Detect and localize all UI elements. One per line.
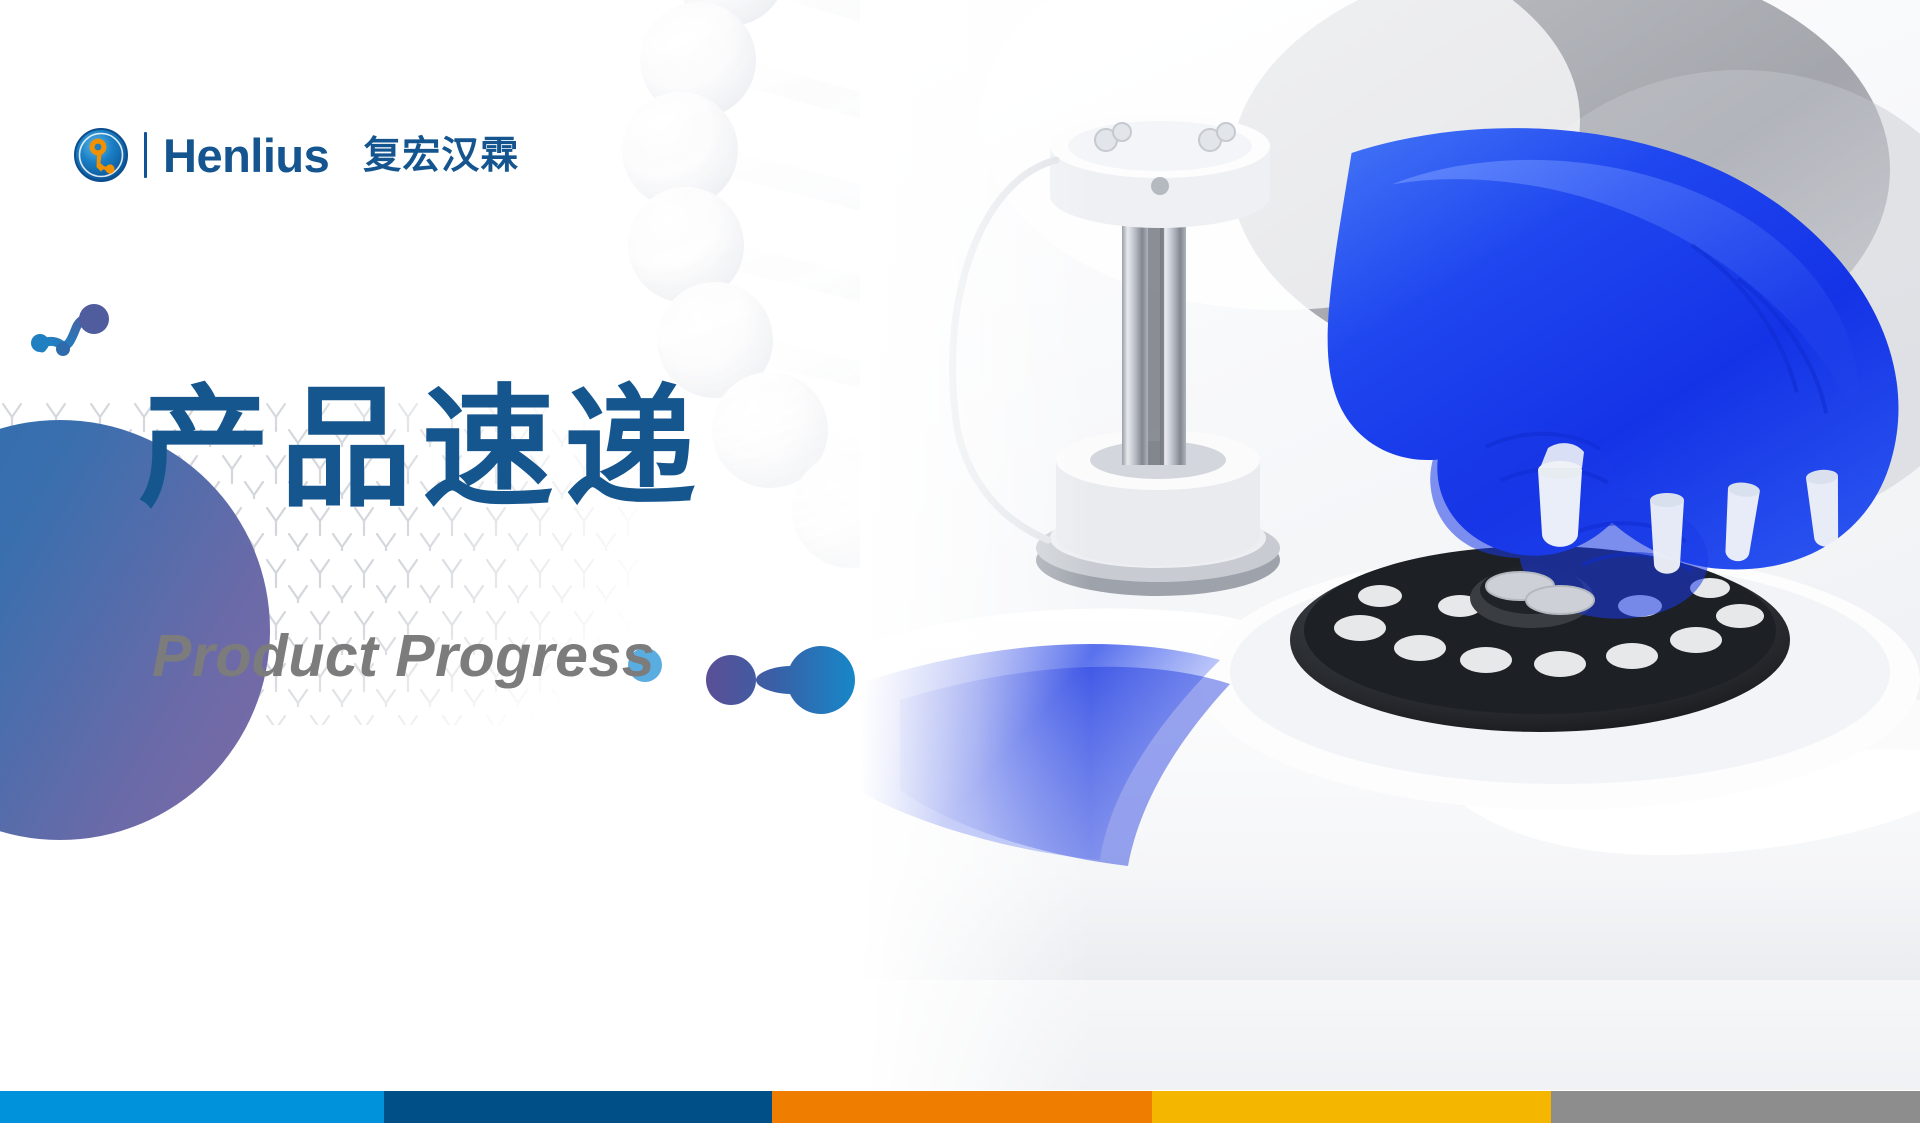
segment-gray <box>1551 1091 1920 1123</box>
henlius-molecule-logo-icon <box>72 126 130 184</box>
segment-dark-blue <box>384 1091 772 1123</box>
logo-divider <box>144 132 147 178</box>
segment-yellow <box>1152 1091 1551 1123</box>
bottom-color-bar <box>0 1091 1920 1123</box>
segment-orange <box>772 1091 1152 1123</box>
lab-centrifuge-blue-glove-photo <box>860 0 1920 1090</box>
slide-root: Henlius 复宏汉霖 产品速递 Product Progress <box>0 0 1920 1123</box>
molecule-two-node-icon <box>28 300 118 370</box>
henlius-logo[interactable]: Henlius 复宏汉霖 <box>72 124 519 186</box>
page-subtitle-en: Product Progress <box>152 627 655 686</box>
logo-wordmark-cn: 复宏汉霖 <box>363 136 519 174</box>
segment-light-blue <box>0 1091 384 1123</box>
page-title-cn: 产品速递 <box>138 383 706 515</box>
logo-wordmark: Henlius <box>163 132 329 179</box>
